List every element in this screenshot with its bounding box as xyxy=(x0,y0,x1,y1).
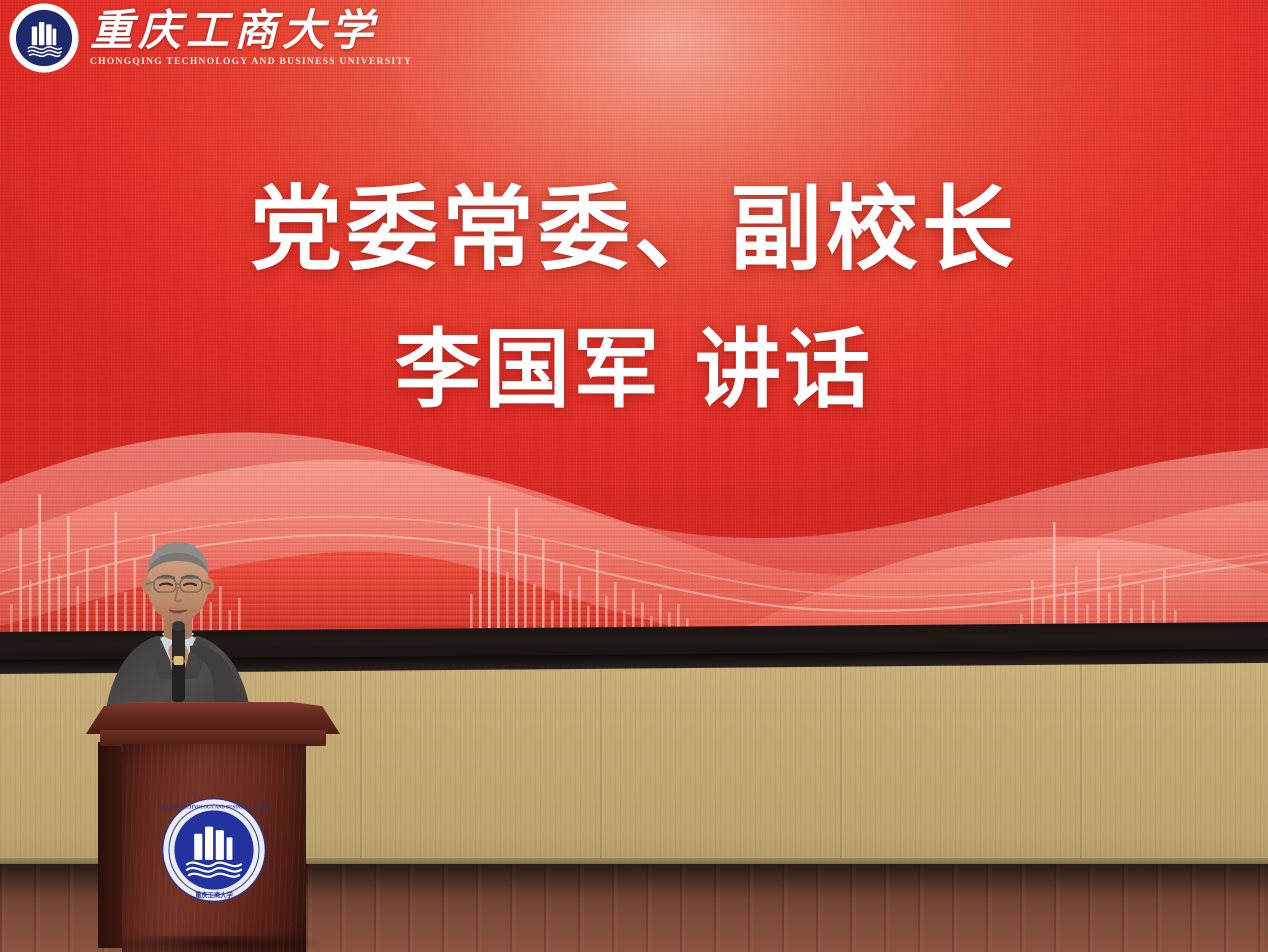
podium-top-surface xyxy=(86,700,340,734)
podium: CHONGQING TECHNOLOGY AND BUSINESS UNIVER… xyxy=(82,700,344,952)
logo-name-cn: 重庆工商大学 xyxy=(90,10,412,53)
university-logo: 重庆工商大学 CHONGQING TECHNOLOGY AND BUSINESS… xyxy=(8,2,412,74)
slide-title-line2: 李国军 讲话 xyxy=(0,321,1268,419)
microphone xyxy=(172,621,185,702)
slide-title-block: 党委常委、副校长 李国军 讲话 xyxy=(0,178,1268,419)
logo-name-en: CHONGQING TECHNOLOGY AND BUSINESS UNIVER… xyxy=(90,58,412,68)
emblem-ring-text: CHONGQING TECHNOLOGY AND BUSINESS UNIVER… xyxy=(160,806,268,811)
slide-title-line1: 党委常委、副校长 xyxy=(0,178,1268,283)
university-seal-icon xyxy=(8,2,80,74)
podium-floor-shadow xyxy=(112,936,322,952)
podium-university-emblem: CHONGQING TECHNOLOGY AND BUSINESS UNIVER… xyxy=(160,796,268,904)
screenshot-root: 重庆工商大学 CHONGQING TECHNOLOGY AND BUSINESS… xyxy=(0,0,1268,952)
logo-wordmark: 重庆工商大学 CHONGQING TECHNOLOGY AND BUSINESS… xyxy=(90,8,412,68)
emblem-cn-text: 重庆工商大学 xyxy=(195,890,233,899)
podium-left-side xyxy=(98,742,124,948)
